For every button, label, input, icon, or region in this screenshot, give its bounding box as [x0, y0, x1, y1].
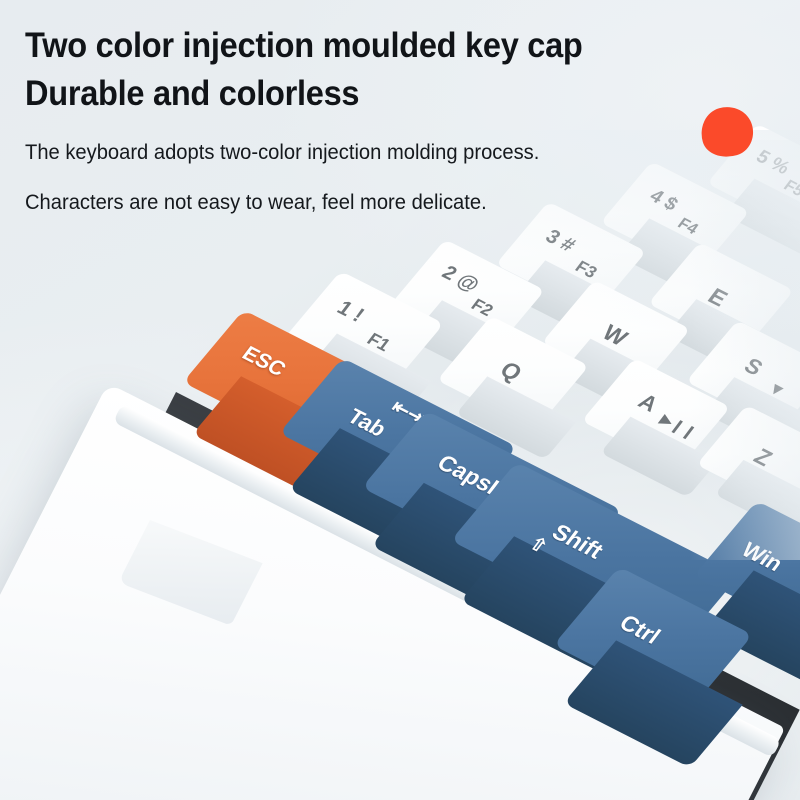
body-line-1: The keyboard adopts two-color injection … [25, 137, 697, 169]
headline-line-2: Durable and colorless [25, 70, 676, 118]
headline-line-1: Two color injection moulded key cap [25, 22, 676, 70]
product-banner: 5 % F5 4 $ F4 3 # F3 2 @ F2 1 ! [0, 0, 800, 800]
key-ctrl[interactable]: Ctrl [578, 590, 768, 780]
body-line-2: Characters are not easy to wear, feel mo… [25, 187, 697, 219]
key-5[interactable]: 5 % F5 [726, 140, 800, 258]
marketing-copy: Two color injection moulded key cap Dura… [25, 22, 725, 219]
